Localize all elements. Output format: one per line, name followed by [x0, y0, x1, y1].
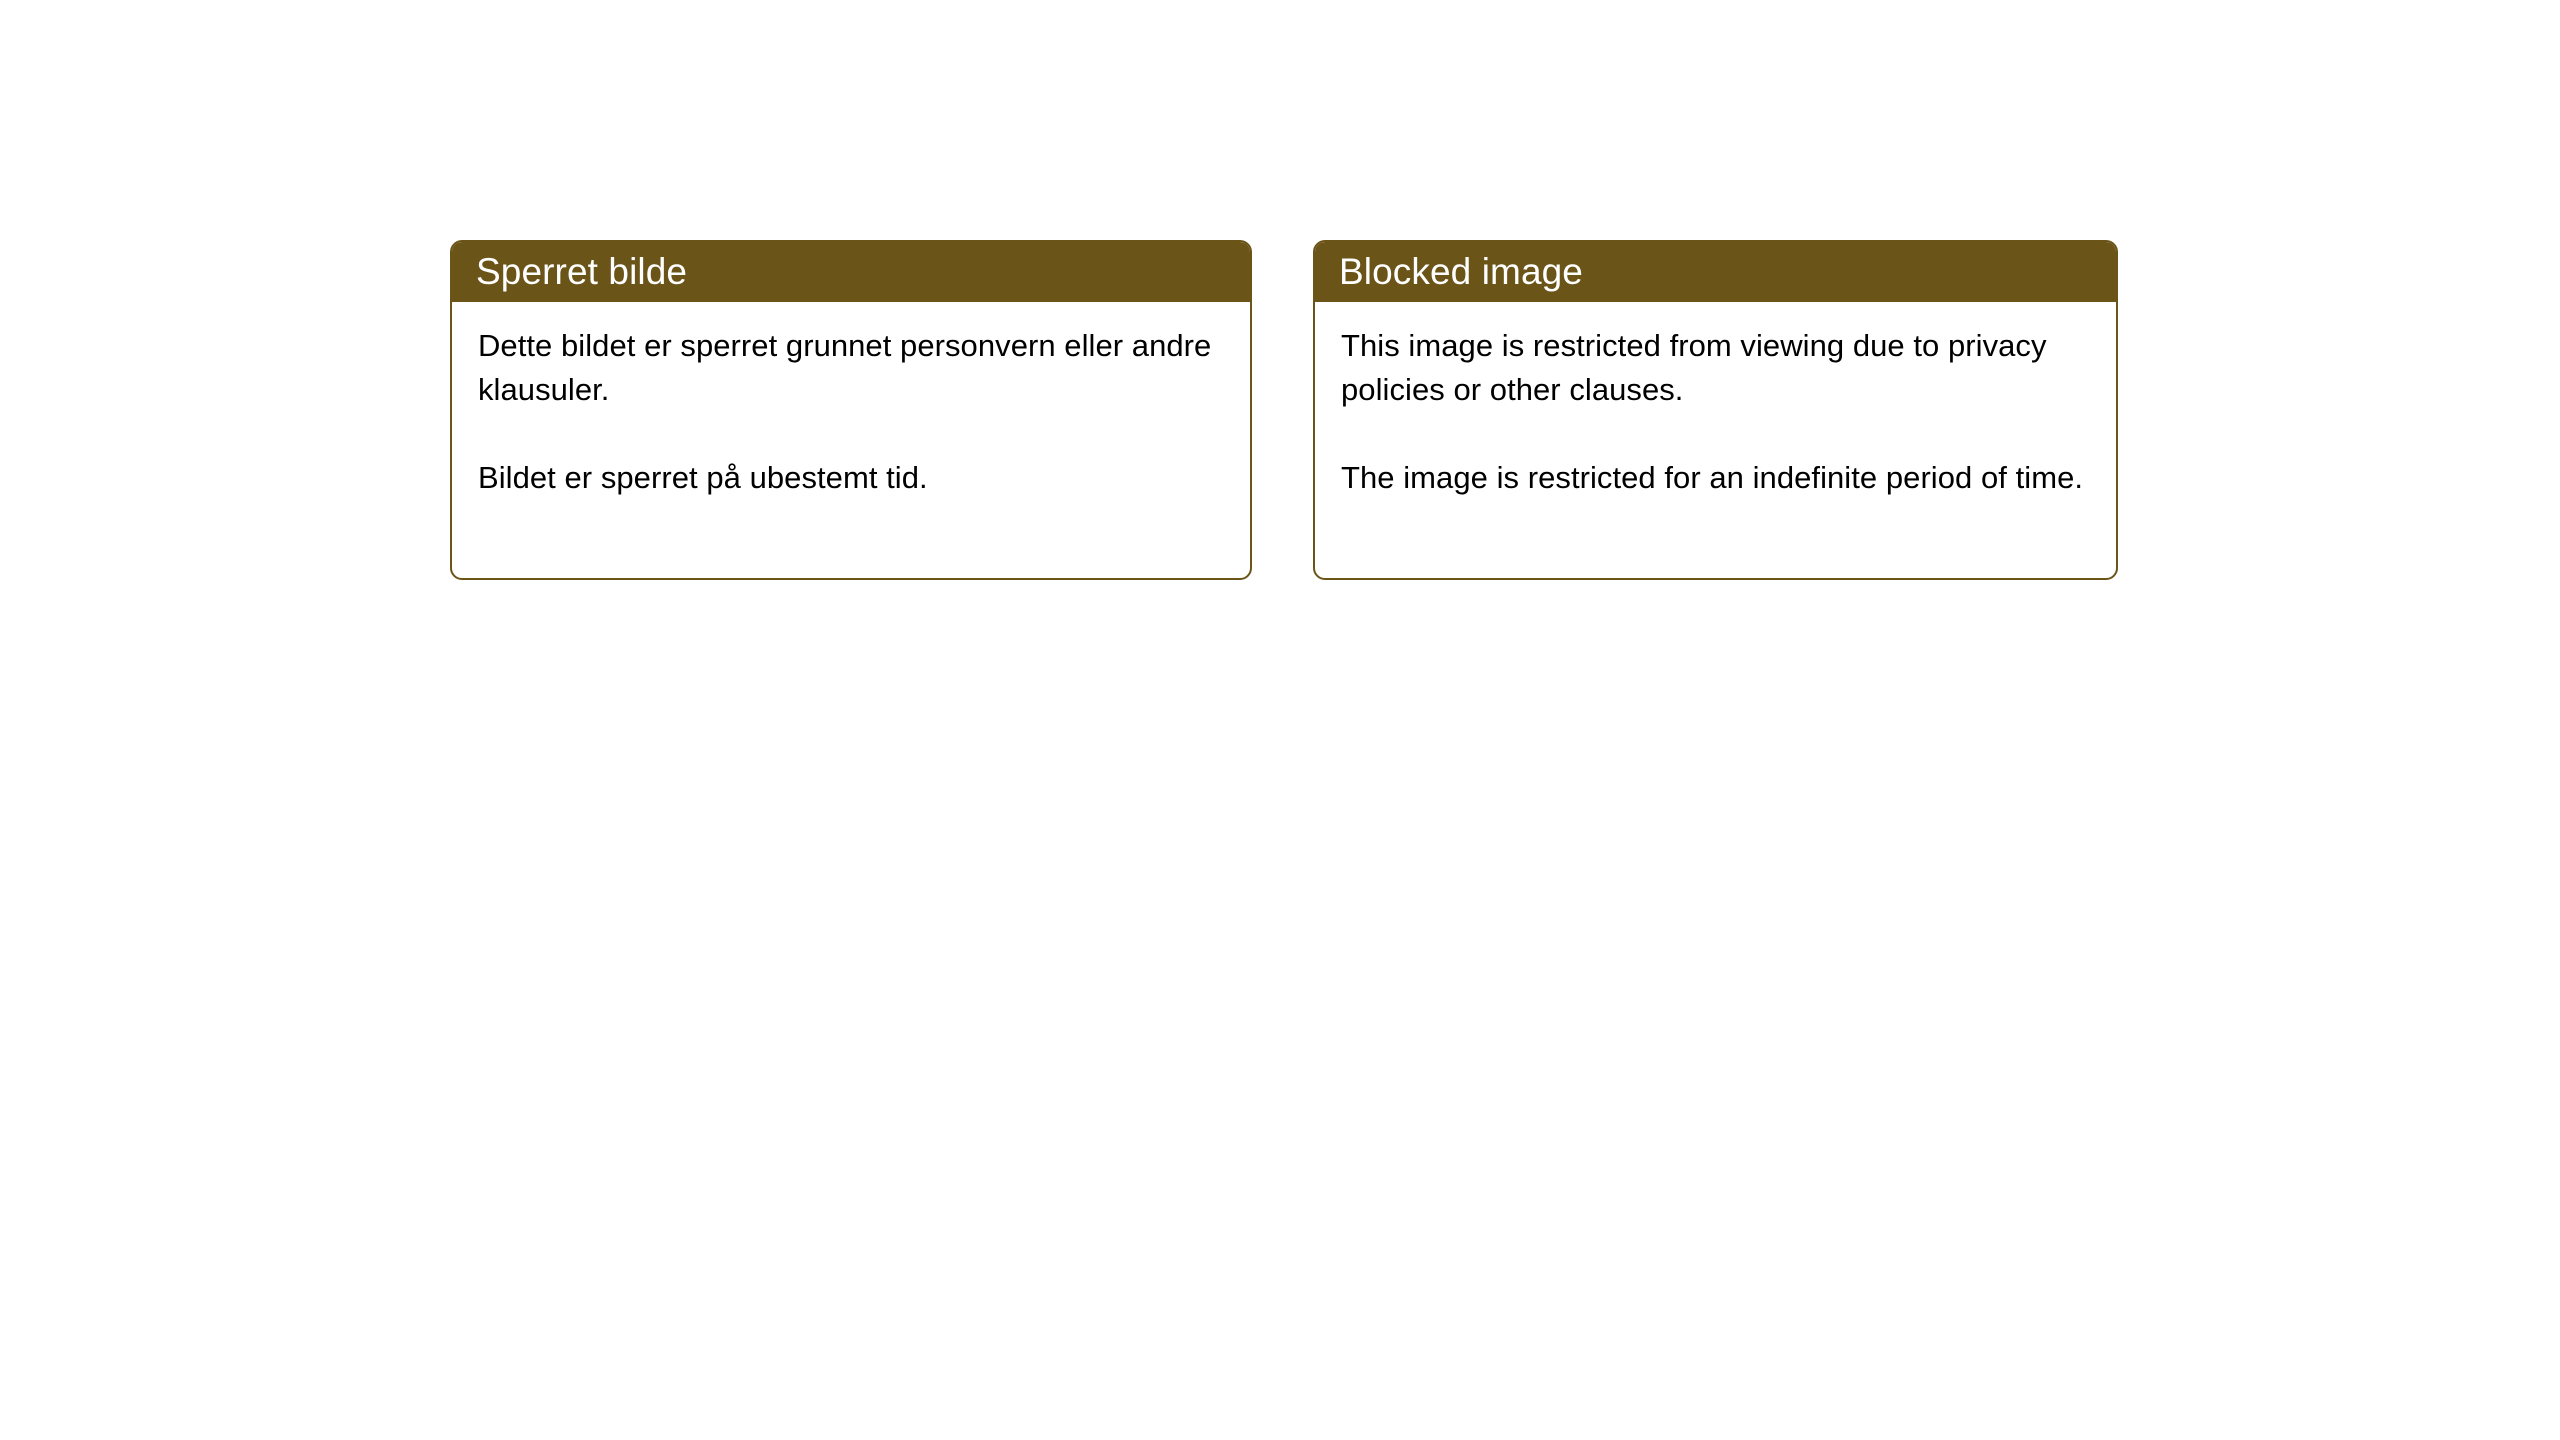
card-paragraph-no-2: Bildet er sperret på ubestemt tid.: [478, 456, 1224, 500]
card-title-en: Blocked image: [1339, 253, 1583, 290]
card-body-en: This image is restricted from viewing du…: [1315, 302, 2116, 500]
blocked-image-notice-card-no: Sperret bilde Dette bildet er sperret gr…: [450, 240, 1252, 580]
card-paragraph-en-2: The image is restricted for an indefinit…: [1341, 456, 2090, 500]
blocked-image-notice-card-en: Blocked image This image is restricted f…: [1313, 240, 2118, 580]
card-paragraph-no-1: Dette bildet er sperret grunnet personve…: [478, 324, 1224, 412]
card-body-no: Dette bildet er sperret grunnet personve…: [452, 302, 1250, 500]
page-canvas: Sperret bilde Dette bildet er sperret gr…: [0, 0, 2560, 1440]
card-header-no: Sperret bilde: [450, 240, 1252, 302]
card-paragraph-en-1: This image is restricted from viewing du…: [1341, 324, 2090, 412]
card-header-en: Blocked image: [1313, 240, 2118, 302]
card-title-no: Sperret bilde: [476, 253, 687, 290]
